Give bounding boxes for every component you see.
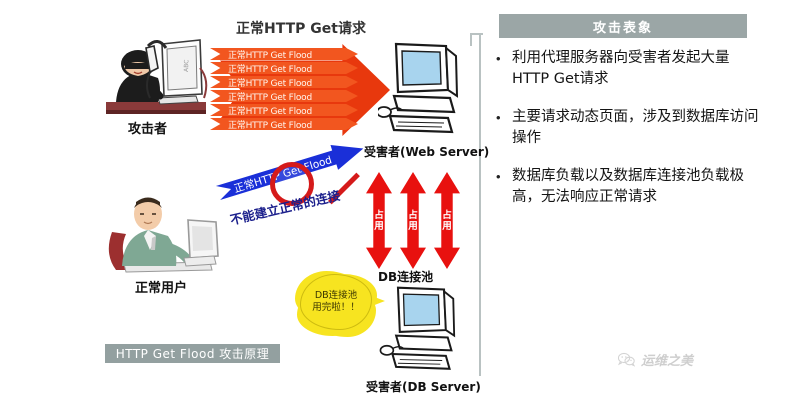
occupy-arrow: 占 用 [434, 172, 460, 269]
list-item: • 利用代理服务器向受害者发起大量HTTP Get请求 [496, 48, 766, 90]
label-attacker: 攻击者 [128, 118, 167, 137]
panel-header-attack-symptoms: 攻击表象 [499, 14, 747, 38]
list-item-text: 利用代理服务器向受害者发起大量HTTP Get请求 [512, 48, 766, 90]
occupy-char-top: 占 [408, 210, 418, 221]
attacker-illustration: ABC [100, 28, 212, 120]
flood-band: 正常HTTP Get Flood [210, 48, 358, 60]
wechat-icon [618, 352, 635, 367]
flood-band-label: 正常HTTP Get Flood [228, 62, 312, 75]
bullet-marker: • [496, 107, 512, 149]
watermark-text: 运维之美 [641, 350, 693, 369]
label-web-server: 受害者(Web Server) [364, 143, 489, 160]
normal-user-illustration [106, 192, 226, 278]
label-normal-user: 正常用户 [135, 277, 187, 296]
flood-band-label: 正常HTTP Get Flood [228, 118, 312, 131]
list-item-text: 数据库负载以及数据库连接池负载极高，无法响应正常请求 [512, 166, 766, 208]
occupy-char-top: 占 [442, 210, 452, 221]
callout-line-2: 用完啦！！ [312, 302, 360, 314]
callout-line-1: DB连接池 [315, 290, 357, 302]
watermark: 运维之美 [618, 350, 693, 369]
vertical-divider [479, 33, 481, 376]
label-db-server: 受害者(DB Server) [366, 378, 481, 395]
occupy-char-bottom: 用 [408, 221, 418, 232]
panel-header-text: 攻击表象 [593, 17, 653, 36]
divider-corner-bracket [470, 33, 483, 46]
svg-text:ABC: ABC [183, 60, 190, 73]
list-item-text: 主要请求动态页面，涉及到数据库访问操作 [512, 107, 766, 149]
db-server-illustration [378, 284, 464, 378]
flood-band-label: 正常HTTP Get Flood [228, 104, 312, 117]
list-item: • 主要请求动态页面，涉及到数据库访问操作 [496, 107, 766, 149]
diagram-caption: HTTP Get Flood 攻击原理 [105, 344, 280, 363]
flood-band: 正常HTTP Get Flood [210, 62, 358, 74]
db-pool-exhausted-callout: DB连接池 用完啦！！ [300, 274, 372, 330]
flood-band: 正常HTTP Get Flood [210, 104, 358, 116]
label-db-pool: DB连接池 [378, 268, 433, 285]
bullet-marker: • [496, 48, 512, 90]
diagram-title-normal-request: 正常HTTP Get请求 [236, 18, 366, 38]
flood-band-label: 正常HTTP Get Flood [228, 48, 312, 61]
attack-symptoms-list: • 利用代理服务器向受害者发起大量HTTP Get请求 • 主要请求动态页面，涉… [496, 48, 766, 225]
http-get-flood-arrows: 正常HTTP Get Flood 正常HTTP Get Flood 正常HTTP… [210, 44, 390, 136]
flood-band: 正常HTTP Get Flood [210, 90, 358, 102]
diagram-caption-text: HTTP Get Flood 攻击原理 [116, 345, 270, 362]
occupy-char-top: 占 [374, 210, 384, 221]
flood-band: 正常HTTP Get Flood [210, 118, 358, 130]
slide-canvas: 正常HTTP Get请求 ABC 攻击者 正常HTTP Get Flood 正常… [0, 0, 788, 400]
web-server-illustration [378, 40, 464, 142]
flood-band-label: 正常HTTP Get Flood [228, 90, 312, 103]
bullet-marker: • [496, 166, 512, 208]
occupy-char-bottom: 用 [442, 221, 452, 232]
occupy-arrow: 占 用 [400, 172, 426, 269]
list-item: • 数据库负载以及数据库连接池负载极高，无法响应正常请求 [496, 166, 766, 208]
flood-band: 正常HTTP Get Flood [210, 76, 358, 88]
flood-band-label: 正常HTTP Get Flood [228, 76, 312, 89]
occupy-char-bottom: 用 [374, 221, 384, 232]
